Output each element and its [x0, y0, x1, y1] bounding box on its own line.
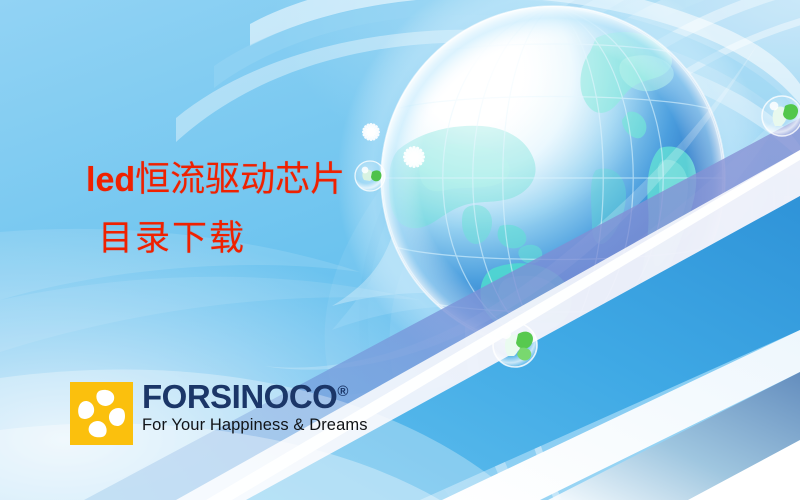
headline-line-1: led恒流驱动芯片 [86, 162, 486, 197]
headline-cjk-product: 恒流驱动芯片 [135, 160, 345, 199]
logo-text-group: FORSINOCO® For Your Happiness & Dreams [142, 380, 368, 435]
bubble-leaf-edge [762, 96, 800, 136]
headline-line-2: 目录下载 [98, 221, 486, 256]
promo-banner: led恒流驱动芯片 目录下载 FORSINOCO® For Your Happ [0, 0, 800, 500]
pinwheel-icon [70, 382, 133, 445]
sparkle-star-left [362, 123, 380, 141]
logo-tagline: For Your Happiness & Dreams [142, 416, 368, 435]
company-logo: FORSINOCO® For Your Happiness & Dreams [70, 382, 368, 445]
headline-latin-led: led [86, 161, 135, 199]
registered-trademark-symbol: ® [337, 383, 348, 400]
bubble-leaf-medium [493, 323, 537, 367]
logo-wordmark-text: FORSINOCO [142, 378, 337, 415]
headline: led恒流驱动芯片 目录下载 [86, 162, 486, 256]
forsinoco-pinwheel-mark [70, 382, 133, 445]
logo-wordmark: FORSINOCO® [142, 380, 368, 415]
